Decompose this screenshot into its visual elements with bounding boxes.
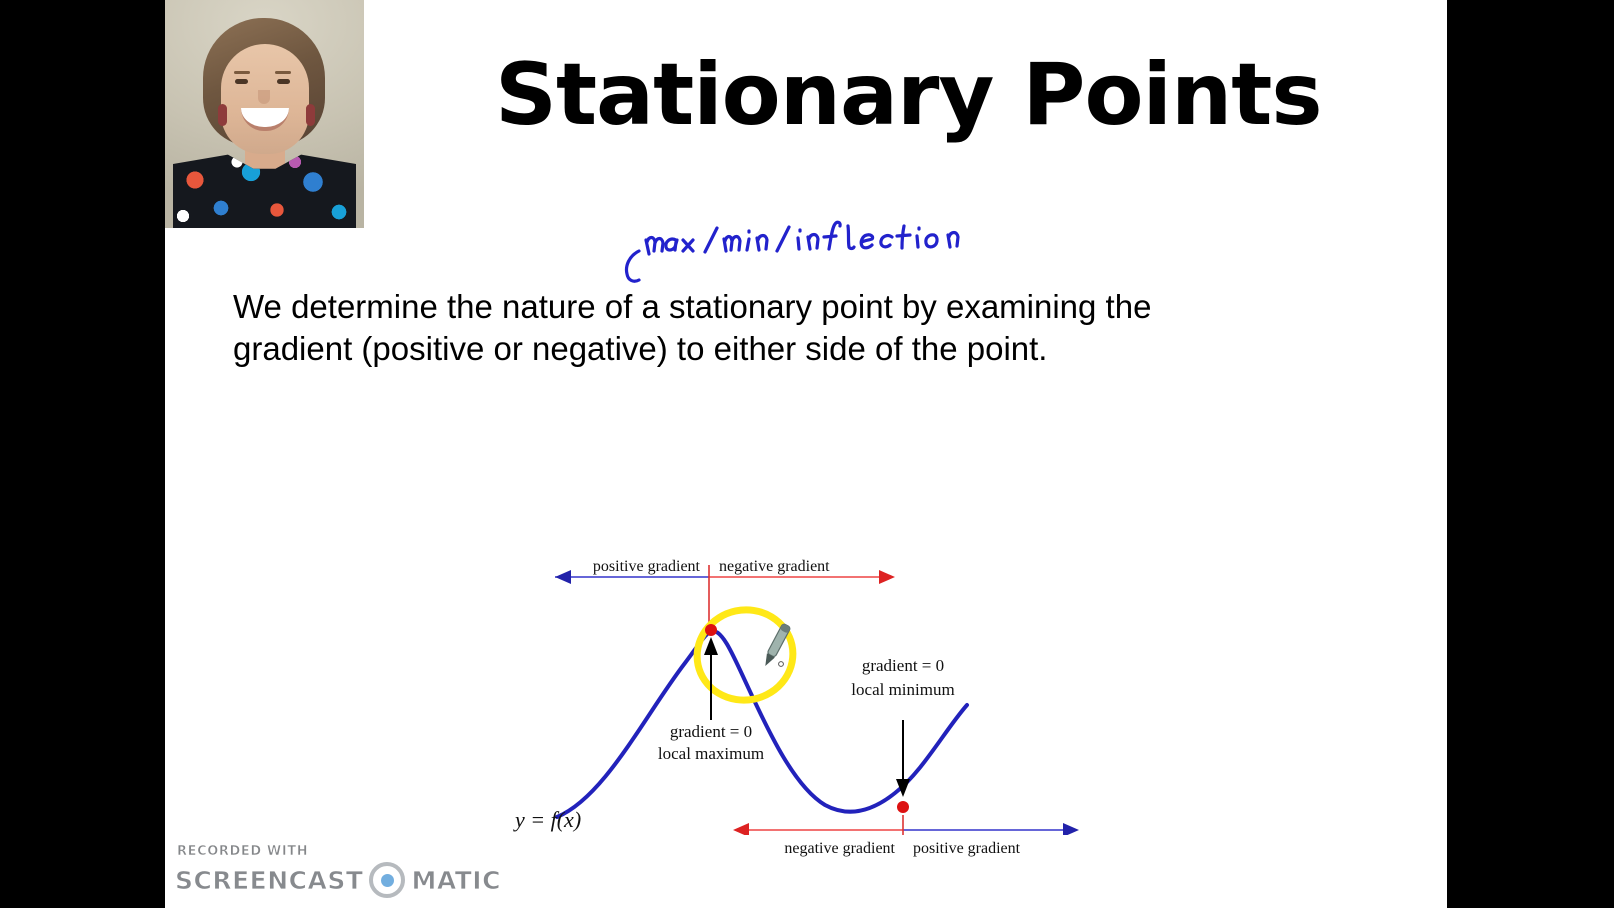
letterbox-bar-right: [1447, 0, 1614, 908]
video-frame: Stationary Points: [0, 0, 1614, 908]
bottom-axis-labels: negative gradient positive gradient: [495, 835, 1095, 875]
screencast-o-matic-watermark: RECORDED WITH SCREENCAST MATIC: [175, 844, 405, 896]
watermark-brand-left: SCREENCAST: [175, 866, 363, 895]
webcam-eyebrow-right: [275, 71, 291, 74]
body-paragraph: We determine the nature of a stationary …: [233, 286, 1263, 370]
top-right-label: negative gradient: [719, 558, 830, 575]
webcam-eye-right: [277, 79, 290, 84]
bottom-left-label: negative gradient: [784, 840, 895, 857]
minimum-label-line1: gradient = 0: [862, 656, 944, 675]
bottom-right-arrowhead-icon: [1063, 823, 1079, 835]
maximum-label-line1: gradient = 0: [670, 722, 752, 741]
top-left-arrowhead-icon: [555, 570, 571, 584]
local-minimum-point: [897, 801, 909, 813]
letterbox-bar-left: [0, 0, 165, 908]
bottom-right-label: positive gradient: [913, 840, 1021, 857]
slide-canvas: Stationary Points: [165, 0, 1447, 908]
handwritten-ink-annotation: [613, 218, 973, 290]
webcam-eye-left: [235, 79, 248, 84]
function-label: y = f(x): [513, 807, 581, 832]
pen-cursor-icon: [761, 623, 791, 668]
maximum-label-line2: local maximum: [658, 744, 764, 763]
watermark-recorded-with-label: RECORDED WITH: [177, 844, 405, 859]
watermark-brand-right: MATIC: [411, 866, 501, 895]
watermark-dot-icon: [381, 874, 394, 887]
minimum-label-line2: local minimum: [851, 680, 954, 699]
local-maximum-point: [705, 624, 717, 636]
webcam-earring-left: [218, 104, 227, 126]
page-title: Stationary Points: [495, 45, 1322, 145]
watermark-ring-icon: [369, 862, 405, 898]
webcam-eyebrow-left: [234, 71, 250, 74]
maximum-callout-arrowhead-icon: [704, 637, 718, 655]
webcam-earring-right: [306, 104, 315, 126]
presenter-webcam-thumbnail[interactable]: [165, 0, 364, 228]
top-left-label: positive gradient: [593, 558, 701, 575]
bottom-left-arrowhead-icon: [733, 823, 749, 835]
stationary-points-figure: positive gradient negative gradient grad…: [495, 545, 1095, 835]
cursor-hotspot-icon: [779, 662, 784, 667]
webcam-nose: [258, 90, 270, 104]
top-right-arrowhead-icon: [879, 570, 895, 584]
watermark-brand: SCREENCAST MATIC: [175, 862, 405, 898]
